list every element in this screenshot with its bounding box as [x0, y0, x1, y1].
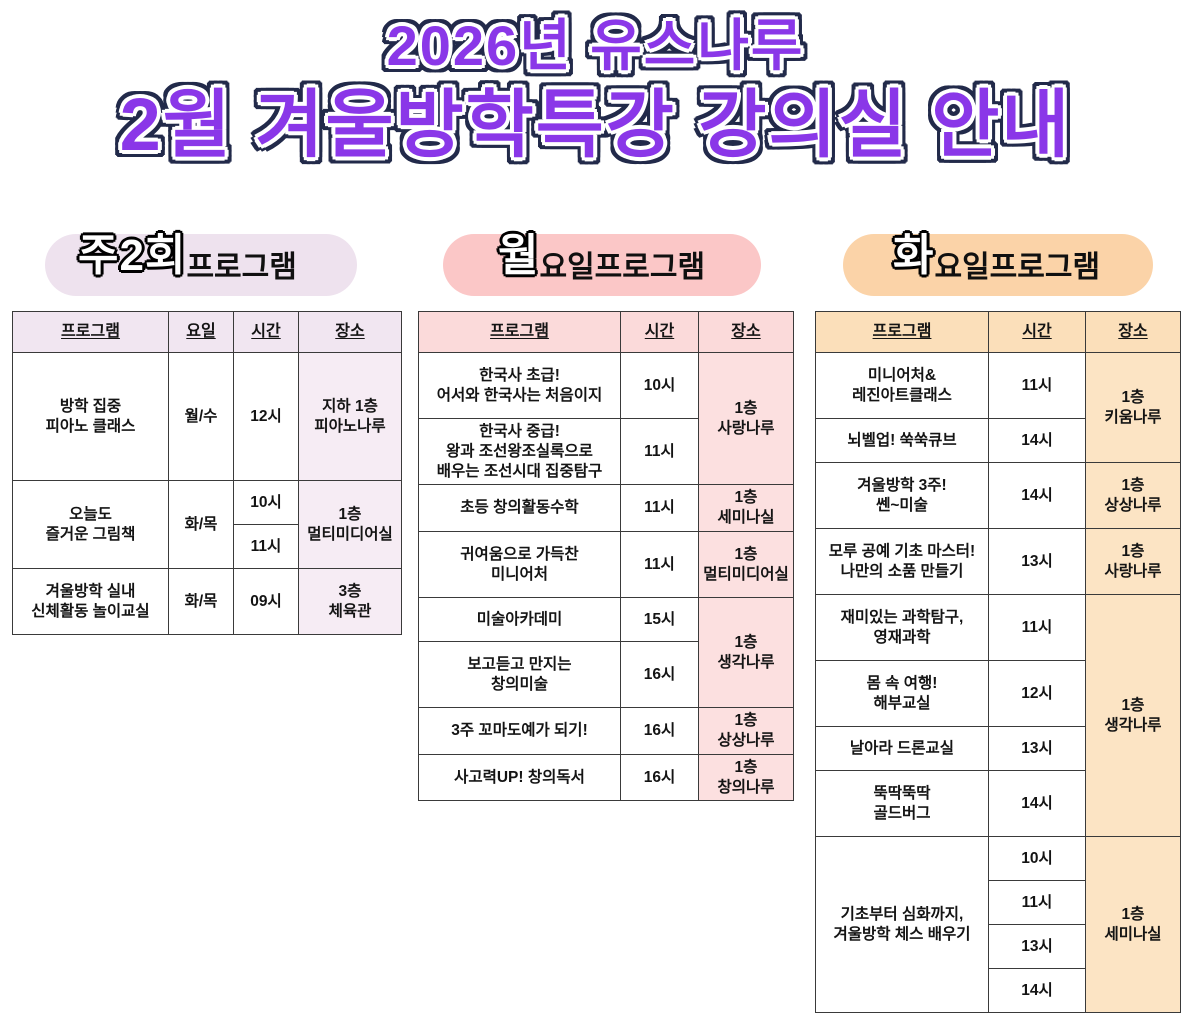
column-header-2: 장소 — [699, 312, 794, 353]
cell-place-0: 지하 1층피아노나루 — [299, 353, 402, 481]
cell-day-1: 화/목 — [169, 481, 234, 569]
table-row: 방학 집중피아노 클래스월/수12시지하 1층피아노나루 — [13, 353, 402, 481]
title-line-1: 2026년 유스나루 — [0, 18, 1191, 74]
cell-program-3: 모루 공예 기초 마스터!나만의 소품 만들기 — [816, 529, 989, 595]
badge-big-label-weekly-twice: 주2회 — [78, 234, 186, 278]
column-header-2: 시간 — [234, 312, 299, 353]
cell-time-3: 11시 — [621, 532, 699, 598]
table-row: 3주 꼬마도예가 되기!16시1층상상나루 — [419, 708, 794, 755]
table-row: 사고력UP! 창의독서16시1층창의나루 — [419, 754, 794, 801]
column-header-1: 요일 — [169, 312, 234, 353]
table-row: 미술아카데미15시1층생각나루 — [419, 598, 794, 642]
cell-time-2: 11시 — [621, 485, 699, 532]
cell-program-5: 보고듣고 만지는창의미술 — [419, 642, 621, 708]
table-header-row: 프로그램요일시간장소 — [13, 312, 402, 353]
cell-program-1: 뇌벨업! 쑥쑥큐브 — [816, 419, 989, 463]
cell-program-8: 기초부터 심화까지,겨울방학 체스 배우기 — [816, 837, 989, 1013]
cell-time-1: 11시 — [621, 419, 699, 485]
cell-place-2: 1층상상나루 — [1086, 463, 1181, 529]
badge-big-label-monday: 월 — [498, 234, 539, 278]
section-badge-monday: 월 요일프로그램 — [443, 234, 761, 296]
poster-title: 2026년 유스나루 2월 겨울방학특강 강의실 안내 — [0, 18, 1191, 162]
column-header-1: 시간 — [989, 312, 1086, 353]
cell-program-1: 오늘도즐거운 그림책 — [13, 481, 169, 569]
cell-program-3: 귀여움으로 가득찬미니어처 — [419, 532, 621, 598]
cell-place-3: 1층사랑나루 — [1086, 529, 1181, 595]
table-body: 방학 집중피아노 클래스월/수12시지하 1층피아노나루오늘도즐거운 그림책화/… — [13, 353, 402, 635]
cell-program-4: 재미있는 과학탐구,영재과학 — [816, 595, 989, 661]
cell-time-4: 15시 — [621, 598, 699, 642]
cell-program-5: 몸 속 여행!해부교실 — [816, 661, 989, 727]
cell-place-4: 1층생각나루 — [1086, 595, 1181, 837]
column-header-0: 프로그램 — [13, 312, 169, 353]
cell-day-2: 화/목 — [169, 569, 234, 635]
cell-program-2: 겨울방학 3주!쎈~미술 — [816, 463, 989, 529]
cell-place-1: 1층멀티미디어실 — [299, 481, 402, 569]
cell-program-1: 한국사 중급!왕과 조선왕조실록으로배우는 조선시대 집중탐구 — [419, 419, 621, 485]
table-row: 귀여움으로 가득찬미니어처11시1층멀티미디어실 — [419, 532, 794, 598]
section-badge-weekly-twice: 주2회 프로그램 — [45, 234, 357, 296]
cell-program-4: 미술아카데미 — [419, 598, 621, 642]
badge-small-label-monday: 요일프로그램 — [539, 253, 705, 283]
badge-small-label-tuesday: 요일프로그램 — [934, 253, 1100, 283]
cell-time-1: 14시 — [989, 419, 1086, 463]
table-header-row: 프로그램시간장소 — [419, 312, 794, 353]
column-header-0: 프로그램 — [816, 312, 989, 353]
column-header-0: 프로그램 — [419, 312, 621, 353]
column-header-3: 장소 — [299, 312, 402, 353]
section-badge-tuesday: 화 요일프로그램 — [843, 234, 1153, 296]
cell-time-7: 16시 — [621, 754, 699, 801]
cell-place-4: 1층생각나루 — [699, 598, 794, 708]
cell-time-0: 11시 — [989, 353, 1086, 419]
cell-time-5: 16시 — [621, 642, 699, 708]
badge-big-label-tuesday: 화 — [893, 234, 934, 278]
cell-program-7: 뚝딱뚝딱골드버그 — [816, 771, 989, 837]
schedule-table-weekly-twice: 프로그램요일시간장소 방학 집중피아노 클래스월/수12시지하 1층피아노나루오… — [12, 311, 402, 635]
cell-program-6: 3주 꼬마도예가 되기! — [419, 708, 621, 755]
column-header-1: 시간 — [621, 312, 699, 353]
table-row: 오늘도즐거운 그림책화/목10시1층멀티미디어실 — [13, 481, 402, 525]
cell-place-8: 1층세미나실 — [1086, 837, 1181, 1013]
cell-place-0: 1층키움나루 — [1086, 353, 1181, 463]
cell-program-2: 겨울방학 실내신체활동 놀이교실 — [13, 569, 169, 635]
table-row: 초등 창의활동수학11시1층세미나실 — [419, 485, 794, 532]
cell-time-8-1: 11시 — [989, 881, 1086, 925]
cell-place-2: 1층세미나실 — [699, 485, 794, 532]
table-row: 재미있는 과학탐구,영재과학11시1층생각나루 — [816, 595, 1181, 661]
table-row: 모루 공예 기초 마스터!나만의 소품 만들기13시1층사랑나루 — [816, 529, 1181, 595]
cell-time-5: 12시 — [989, 661, 1086, 727]
cell-place-2: 3층체육관 — [299, 569, 402, 635]
cell-time-4: 11시 — [989, 595, 1086, 661]
title-line-2: 2월 겨울방학특강 강의실 안내 — [0, 88, 1191, 162]
cell-program-0: 방학 집중피아노 클래스 — [13, 353, 169, 481]
cell-program-0: 미니어처&레진아트클래스 — [816, 353, 989, 419]
column-header-2: 장소 — [1086, 312, 1181, 353]
cell-program-7: 사고력UP! 창의독서 — [419, 754, 621, 801]
cell-time-0-0: 12시 — [234, 353, 299, 481]
cell-time-8-0: 10시 — [989, 837, 1086, 881]
cell-place-3: 1층멀티미디어실 — [699, 532, 794, 598]
table-body: 한국사 초급!어서와 한국사는 처음이지10시1층사랑나루한국사 중급!왕과 조… — [419, 353, 794, 801]
cell-time-3: 13시 — [989, 529, 1086, 595]
badge-small-label-weekly-twice: 프로그램 — [186, 253, 296, 283]
cell-place-7: 1층창의나루 — [699, 754, 794, 801]
cell-program-6: 날아라 드론교실 — [816, 727, 989, 771]
table-row: 기초부터 심화까지,겨울방학 체스 배우기10시1층세미나실 — [816, 837, 1181, 881]
cell-time-2-0: 09시 — [234, 569, 299, 635]
cell-time-7: 14시 — [989, 771, 1086, 837]
cell-place-6: 1층상상나루 — [699, 708, 794, 755]
cell-time-1-0: 10시 — [234, 481, 299, 525]
table-row: 한국사 초급!어서와 한국사는 처음이지10시1층사랑나루 — [419, 353, 794, 419]
cell-time-0: 10시 — [621, 353, 699, 419]
cell-day-0: 월/수 — [169, 353, 234, 481]
cell-program-2: 초등 창의활동수학 — [419, 485, 621, 532]
table-header-row: 프로그램시간장소 — [816, 312, 1181, 353]
table-row: 겨울방학 3주!쎈~미술14시1층상상나루 — [816, 463, 1181, 529]
cell-time-8-3: 14시 — [989, 969, 1086, 1013]
table-row: 미니어처&레진아트클래스11시1층키움나루 — [816, 353, 1181, 419]
schedule-table-tuesday: 프로그램시간장소 미니어처&레진아트클래스11시1층키움나루뇌벨업! 쑥쑥큐브1… — [815, 311, 1181, 1013]
table-row: 겨울방학 실내신체활동 놀이교실화/목09시3층체육관 — [13, 569, 402, 635]
cell-time-1-1: 11시 — [234, 525, 299, 569]
schedule-table-monday: 프로그램시간장소 한국사 초급!어서와 한국사는 처음이지10시1층사랑나루한국… — [418, 311, 794, 801]
cell-time-6: 13시 — [989, 727, 1086, 771]
table-body: 미니어처&레진아트클래스11시1층키움나루뇌벨업! 쑥쑥큐브14시겨울방학 3주… — [816, 353, 1181, 1013]
cell-time-2: 14시 — [989, 463, 1086, 529]
cell-time-8-2: 13시 — [989, 925, 1086, 969]
cell-place-0: 1층사랑나루 — [699, 353, 794, 485]
cell-program-0: 한국사 초급!어서와 한국사는 처음이지 — [419, 353, 621, 419]
cell-time-6: 16시 — [621, 708, 699, 755]
